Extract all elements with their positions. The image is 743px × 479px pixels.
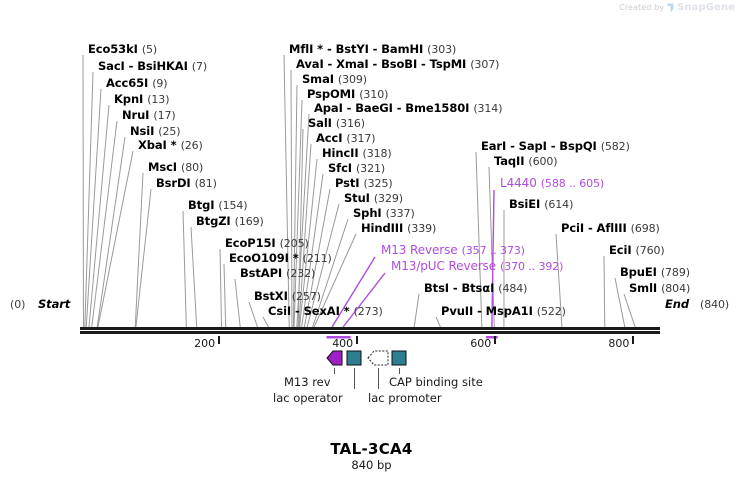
enzyme-name: BstAPI [240, 266, 282, 280]
enzyme-leader-line [135, 173, 143, 327]
enzyme-position: (760) [636, 244, 665, 257]
enzyme-name: SfcI [328, 161, 352, 175]
feature-name: L4440 [500, 176, 537, 190]
enzyme-name: SalI [308, 116, 332, 130]
enzyme-name: BtgZI [196, 214, 231, 228]
enzyme-name: PspOMI [307, 87, 355, 101]
enzyme-label[interactable]: BtgI(154) [188, 198, 247, 212]
enzyme-leader-line [604, 256, 605, 327]
ruler-tick [494, 336, 496, 344]
enzyme-leader-line [86, 89, 101, 327]
end-label: End [665, 297, 689, 311]
start-label: Start [38, 297, 70, 311]
enzyme-label[interactable]: PspOMI(310) [307, 87, 388, 101]
enzyme-label[interactable]: HincII(318) [322, 146, 392, 160]
enzyme-position: (80) [181, 161, 203, 174]
map-feature-label[interactable]: CAP binding site [389, 375, 483, 389]
enzyme-position: (337) [386, 207, 415, 220]
enzyme-leader-line [249, 302, 257, 327]
enzyme-name: EcoO109I * [229, 251, 299, 265]
enzyme-name: CsiI - SexAI * [268, 304, 350, 318]
enzyme-label[interactable]: TaqII(600) [494, 154, 558, 168]
enzyme-label[interactable]: ApaI - BaeGI - Bme1580I(314) [314, 101, 502, 115]
map-feature-label[interactable]: lac operator [273, 391, 343, 405]
snapgene-logo-icon [667, 3, 674, 13]
enzyme-label[interactable]: BpuEI(789) [620, 265, 690, 279]
enzyme-position: (232) [286, 267, 315, 280]
enzyme-name: BsrDI [156, 176, 191, 190]
enzyme-label[interactable]: EcoO109I *(211) [229, 251, 332, 265]
enzyme-leader-line [414, 294, 419, 327]
enzyme-label[interactable]: PciI - AflIII(698) [561, 221, 660, 235]
enzyme-leader-line [436, 317, 440, 327]
enzyme-leader-line [89, 105, 109, 327]
enzyme-name: PvuII - MspA1I [441, 304, 533, 318]
enzyme-position: (17) [153, 109, 175, 122]
enzyme-position: (81) [195, 177, 217, 190]
enzyme-position: (600) [528, 155, 557, 168]
end-position: (840) [700, 298, 729, 311]
map-feature-glyph[interactable] [326, 350, 343, 366]
enzyme-name: TaqII [494, 154, 524, 168]
feature-label[interactable]: M13 Reverse(357 .. 373) [381, 243, 525, 257]
enzyme-position: (154) [218, 199, 247, 212]
enzyme-leader-line [85, 72, 93, 327]
enzyme-label[interactable]: MscI(80) [148, 160, 203, 174]
enzyme-position: (317) [346, 132, 375, 145]
enzyme-label[interactable]: SfcI(321) [328, 161, 385, 175]
enzyme-position: (321) [356, 162, 385, 175]
enzyme-leader-line [615, 278, 625, 327]
enzyme-name: BpuEI [620, 265, 657, 279]
enzyme-position: (310) [359, 88, 388, 101]
enzyme-name: MflI * - BstYI - BamHI [289, 42, 423, 56]
enzyme-name: MscI [148, 160, 177, 174]
enzyme-name: BstXI [254, 289, 288, 303]
enzyme-label[interactable]: AccI(317) [316, 131, 376, 145]
enzyme-name: BsiEI [509, 197, 540, 211]
enzyme-label[interactable]: HindIII(339) [361, 221, 436, 235]
enzyme-leader-line [235, 279, 240, 327]
enzyme-label[interactable]: BsiEI(614) [509, 197, 573, 211]
enzyme-label[interactable]: BtsI - BtsαI(484) [424, 281, 527, 295]
enzyme-label[interactable]: EcoP15I(205) [225, 236, 309, 250]
enzyme-label[interactable]: MflI * - BstYI - BamHI(303) [289, 42, 456, 56]
ruler-tick [356, 336, 358, 344]
enzyme-name: SmaI [302, 72, 334, 86]
map-feature-label[interactable]: M13 rev [284, 375, 331, 389]
enzyme-label[interactable]: SalI(316) [308, 116, 365, 130]
enzyme-position: (789) [661, 266, 690, 279]
enzyme-leader-line [476, 152, 482, 327]
enzyme-name: ApaI - BaeGI - Bme1580I [314, 101, 469, 115]
enzyme-leader-line [263, 317, 269, 327]
enzyme-name: Acc65I [106, 76, 148, 90]
enzyme-label[interactable]: Acc65I(9) [106, 76, 168, 90]
feature-leader-line [343, 273, 385, 327]
enzyme-position: (13) [147, 93, 169, 106]
enzyme-name: HindIII [361, 221, 403, 235]
feature-shape-arrow-left-open [368, 351, 388, 365]
enzyme-label[interactable]: BstAPI(232) [240, 266, 315, 280]
feature-name: M13/pUC Reverse [391, 259, 496, 273]
enzyme-label[interactable]: XbaI *(26) [138, 138, 203, 152]
enzyme-name: SmlI [629, 281, 657, 295]
enzyme-name: EarI - SapI - BspQI [481, 139, 597, 153]
enzyme-position: (211) [303, 252, 332, 265]
feature-shape-box [392, 351, 406, 365]
enzyme-label[interactable]: BtgZI(169) [196, 214, 264, 228]
enzyme-leader-line [92, 121, 117, 327]
enzyme-name: SphI [353, 206, 382, 220]
sequence-axis-bar-top [80, 327, 660, 330]
enzyme-leader-line [136, 189, 151, 327]
snapgene-watermark: Created by SnapGene [619, 2, 735, 13]
enzyme-label[interactable]: SmaI(309) [302, 72, 367, 86]
feature-shape-box [347, 351, 361, 365]
enzyme-name: KpnI [114, 92, 143, 106]
enzyme-position: (339) [407, 222, 436, 235]
enzyme-label[interactable]: NsiI(25) [130, 124, 180, 138]
enzyme-position: (698) [631, 222, 660, 235]
enzyme-name: AvaI - XmaI - BsoBI - TspMI [296, 57, 466, 71]
enzyme-position: (614) [544, 198, 573, 211]
enzyme-label[interactable]: Eco53kI(5) [88, 42, 157, 56]
enzyme-leader-line [224, 264, 226, 327]
enzyme-label[interactable]: StuI(329) [344, 191, 403, 205]
watermark-brand: SnapGene [677, 2, 735, 13]
enzyme-position: (484) [498, 282, 527, 295]
enzyme-label[interactable]: PvuII - MspA1I(522) [441, 304, 566, 318]
enzyme-position: (26) [181, 139, 203, 152]
enzyme-position: (329) [374, 192, 403, 205]
enzyme-label[interactable]: NruI(17) [122, 108, 176, 122]
enzyme-position: (257) [292, 290, 321, 303]
enzyme-leader-line [220, 249, 222, 327]
enzyme-position: (5) [142, 43, 157, 56]
feature-shape-arrow-left [327, 351, 342, 365]
enzyme-position: (316) [336, 117, 365, 130]
enzyme-label[interactable]: AvaI - XmaI - BsoBI - TspMI(307) [296, 57, 499, 71]
map-feature-connector [354, 368, 355, 389]
enzyme-name: PciI - AflIII [561, 221, 627, 235]
enzyme-position: (273) [354, 305, 383, 318]
map-feature-glyph[interactable] [391, 350, 407, 366]
feature-range: (588 .. 605) [541, 177, 604, 190]
enzyme-position: (522) [537, 305, 566, 318]
enzyme-leader-line [97, 137, 125, 327]
enzyme-position: (169) [235, 215, 264, 228]
enzyme-position: (318) [363, 147, 392, 160]
enzyme-name: XbaI * [138, 138, 177, 152]
feature-label[interactable]: L4440(588 .. 605) [500, 176, 604, 190]
enzyme-label[interactable]: SmlI(804) [629, 281, 690, 295]
enzyme-position: (804) [661, 282, 690, 295]
enzyme-label[interactable]: BsrDI(81) [156, 176, 217, 190]
enzyme-name: NruI [122, 108, 149, 122]
enzyme-position: (307) [470, 58, 499, 71]
enzyme-leader-line [98, 151, 133, 327]
enzyme-position: (7) [192, 60, 207, 73]
enzyme-position: (205) [280, 237, 309, 250]
enzyme-label[interactable]: EciI(760) [609, 243, 665, 257]
enzyme-leader-line [183, 211, 186, 327]
enzyme-position: (25) [158, 125, 180, 138]
enzyme-name: EciI [609, 243, 632, 257]
feature-range: (370 .. 392) [500, 260, 563, 273]
feature-range: (357 .. 373) [462, 244, 525, 257]
map-feature-glyph[interactable] [367, 350, 389, 366]
enzyme-name: EcoP15I [225, 236, 276, 250]
enzyme-name: HincII [322, 146, 359, 160]
enzyme-name: NsiI [130, 124, 154, 138]
enzyme-label[interactable]: SacI - BsiHKAI(7) [98, 59, 207, 73]
ruler-tick [218, 336, 220, 344]
enzyme-label[interactable]: BstXI(257) [254, 289, 321, 303]
enzyme-name: Eco53kI [88, 42, 138, 56]
enzyme-leader-line [191, 227, 197, 327]
enzyme-name: BtsI - BtsαI [424, 281, 494, 295]
feature-name: M13 Reverse [381, 243, 458, 257]
watermark-prefix: Created by [619, 3, 664, 12]
enzyme-position: (325) [363, 177, 392, 190]
page-subtitle: 840 bp [0, 458, 743, 472]
start-position: (0) [10, 298, 25, 311]
map-feature-glyph[interactable] [346, 350, 362, 366]
sequence-map-canvas: Created by SnapGene Eco53kI(5)SacI - Bsi… [0, 0, 743, 479]
enzyme-position: (303) [427, 43, 456, 56]
map-feature-label[interactable]: lac promoter [368, 391, 442, 405]
page-title: TAL-3CA4 [0, 440, 743, 458]
enzyme-position: (582) [601, 140, 630, 153]
map-feature-connector [378, 368, 379, 389]
feature-glyph-row [0, 348, 743, 370]
map-feature-connector [399, 368, 400, 374]
enzyme-name: StuI [344, 191, 370, 205]
enzyme-label[interactable]: EarI - SapI - BspQI(582) [481, 139, 630, 153]
feature-label[interactable]: M13/pUC Reverse(370 .. 392) [391, 259, 563, 273]
enzyme-position: (309) [338, 73, 367, 86]
enzyme-leader-line [624, 294, 635, 327]
enzyme-label[interactable]: SphI(337) [353, 206, 415, 220]
enzyme-name: PstI [335, 176, 359, 190]
enzyme-name: AccI [316, 131, 342, 145]
enzyme-label[interactable]: CsiI - SexAI *(273) [268, 304, 383, 318]
enzyme-name: BtgI [188, 198, 214, 212]
enzyme-leader-line [284, 55, 289, 327]
map-feature-connector [334, 368, 335, 374]
enzyme-position: (9) [152, 77, 167, 90]
enzyme-position: (314) [473, 102, 502, 115]
sequence-axis-bar-bottom [80, 331, 660, 334]
ruler-tick [632, 336, 634, 344]
enzyme-label[interactable]: PstI(325) [335, 176, 393, 190]
enzyme-name: SacI - BsiHKAI [98, 59, 188, 73]
enzyme-label[interactable]: KpnI(13) [114, 92, 169, 106]
